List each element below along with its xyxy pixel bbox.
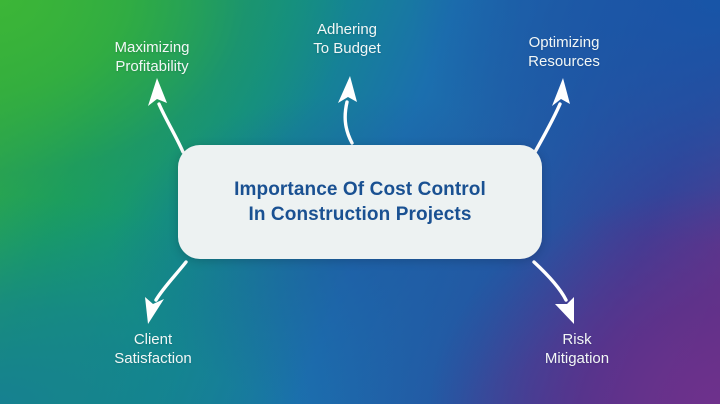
arrow-to-adhering-to-budget: [338, 76, 357, 143]
node-label-line1: Optimizing: [464, 33, 664, 52]
center-card-title-line2: In Construction Projects: [248, 202, 471, 227]
node-label-client-satisfaction[interactable]: Client Satisfaction: [53, 330, 253, 368]
center-card[interactable]: Importance Of Cost Control In Constructi…: [178, 145, 542, 259]
node-label-line2: Profitability: [52, 57, 252, 76]
node-label-risk-mitigation[interactable]: Risk Mitigation: [477, 330, 677, 368]
node-label-line2: Satisfaction: [53, 349, 253, 368]
node-label-line2: Resources: [464, 52, 664, 71]
node-label-line1: Maximizing: [52, 38, 252, 57]
center-card-title-line1: Importance Of Cost Control: [234, 177, 486, 202]
node-label-line1: Adhering: [247, 20, 447, 39]
node-label-maximizing-profitability[interactable]: Maximizing Profitability: [52, 38, 252, 76]
node-label-line1: Client: [53, 330, 253, 349]
node-label-line2: To Budget: [247, 39, 447, 58]
arrow-to-risk-mitigation: [534, 262, 574, 324]
arrow-to-optimizing-resources: [535, 78, 570, 152]
node-label-line1: Risk: [477, 330, 677, 349]
arrow-to-client-satisfaction: [145, 262, 186, 324]
diagram-canvas: .arrowline { fill:none; stroke:#ffffff; …: [0, 0, 720, 404]
node-label-line2: Mitigation: [477, 349, 677, 368]
node-label-adhering-to-budget[interactable]: Adhering To Budget: [247, 20, 447, 58]
arrow-to-maximizing-profitability: [148, 78, 183, 152]
node-label-optimizing-resources[interactable]: Optimizing Resources: [464, 33, 664, 71]
